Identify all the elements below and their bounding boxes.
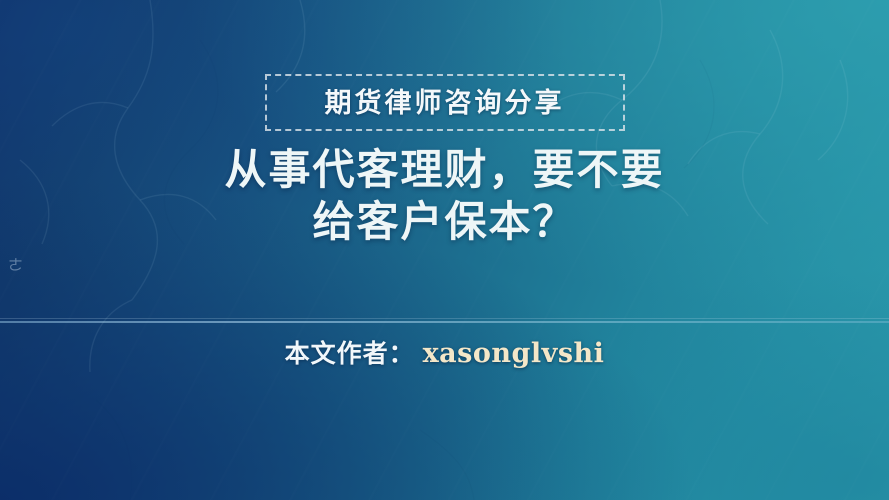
category-badge: 期货律师咨询分享 (265, 74, 625, 131)
divider-rule (0, 321, 889, 323)
corner-watermark-glyph: ㄜ (8, 258, 23, 273)
author-name: xasonglvshi (423, 338, 605, 369)
author-label: 本文作者： (285, 334, 415, 370)
badge-container: 期货律师咨询分享 (0, 74, 889, 131)
author-block: 本文作者： xasonglvshi (0, 334, 889, 370)
headline-line-1: 从事代客理财，要不要 (0, 144, 889, 196)
divider-rule-soft (0, 318, 889, 319)
category-badge-label: 期货律师咨询分享 (325, 88, 565, 119)
headline-line-2: 给客户保本？ (0, 196, 889, 248)
headline-block: 从事代客理财，要不要 给客户保本？ (0, 144, 889, 248)
slide-canvas: ㄜ 期货律师咨询分享 从事代客理财，要不要 给客户保本？ 本文作者： xason… (0, 0, 889, 500)
